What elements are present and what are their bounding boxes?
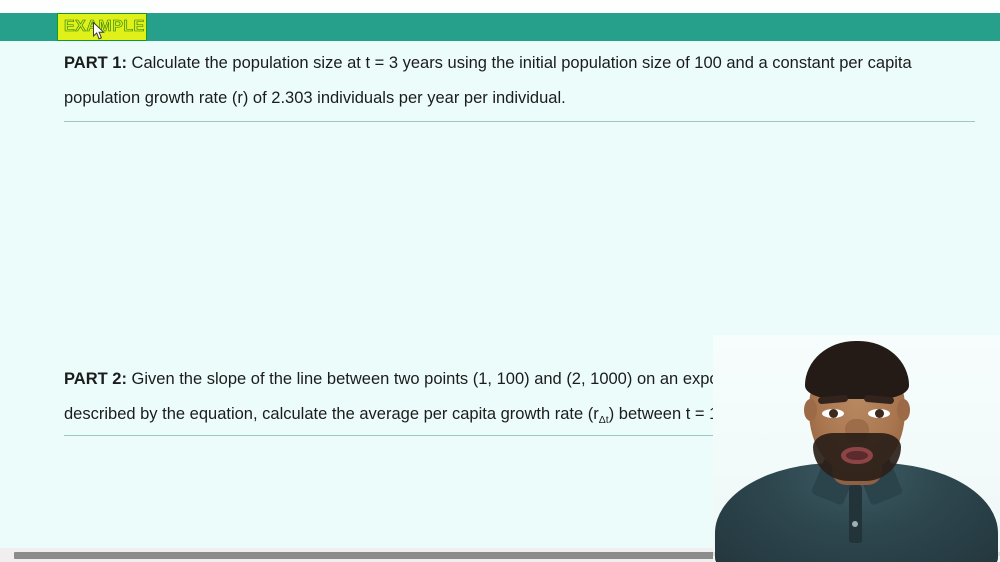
presenter-mouth-inner: [846, 451, 868, 460]
part-1-line-2: population growth rate (r) of 2.303 indi…: [64, 81, 976, 116]
part-1-question: PART 1: Calculate the population size at…: [64, 46, 976, 116]
presenter-ear-left: [804, 399, 817, 421]
part-1-line-1: PART 1: Calculate the population size at…: [64, 46, 976, 81]
presenter-eye-right: [868, 409, 890, 418]
growth-rate-subscript: Δt: [599, 414, 609, 426]
example-label: EXAMPLE: [64, 17, 145, 37]
lesson-slide-screen: EXAMPLE PART 1: Calculate the population…: [0, 0, 1000, 562]
presenter-shirt-button: [852, 521, 858, 527]
part-2-label: PART 2:: [64, 370, 127, 388]
instructor-video-overlay[interactable]: [713, 335, 1000, 562]
presenter-eye-left: [822, 409, 844, 418]
divider-after-part-1: [64, 121, 975, 122]
presenter-ear-right: [897, 399, 910, 421]
presenter-shirt-placket: [849, 485, 862, 543]
part-2-text-line-2-prefix: described by the equation, calculate the…: [64, 405, 599, 423]
part-1-text-line-1: Calculate the population size at t = 3 y…: [127, 54, 912, 72]
part-1-label: PART 1:: [64, 54, 127, 72]
